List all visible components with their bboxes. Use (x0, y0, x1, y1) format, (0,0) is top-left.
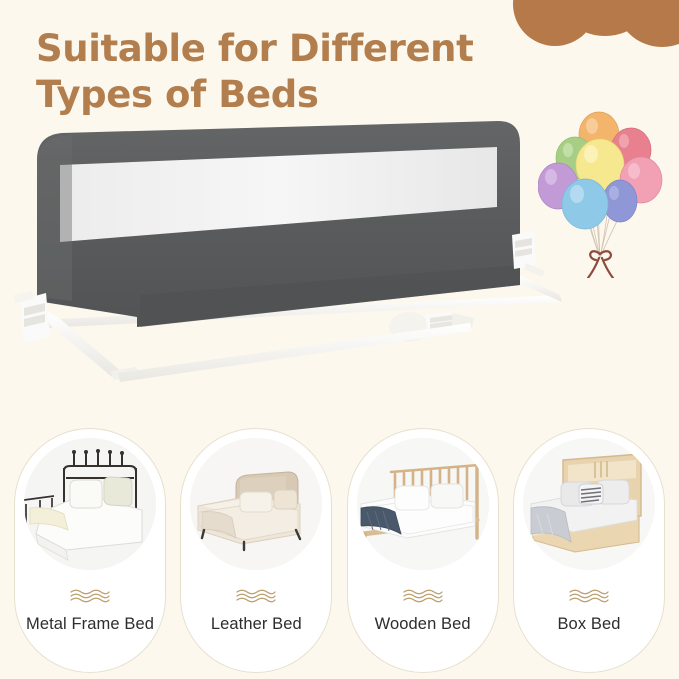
support-bar-front (118, 323, 472, 382)
wave-divider-icon (234, 588, 278, 604)
bed-card-label: Leather Bed (203, 615, 310, 634)
bed-card-box-bed[interactable]: Box Bed (513, 428, 665, 673)
bed-card-metal-frame-bed[interactable]: Metal Frame Bed (14, 428, 166, 673)
rail-left-edge (37, 135, 72, 301)
bed-card-label: Box Bed (549, 615, 628, 634)
wooden-bed-photo (357, 438, 489, 570)
left-mounting-bracket (14, 291, 50, 343)
wave-divider-icon (567, 588, 611, 604)
box-bed-photo (523, 438, 655, 570)
bed-card-wooden-bed[interactable]: Wooden Bed (347, 428, 499, 673)
balloon-blue (562, 179, 608, 229)
bed-card-leather-bed[interactable]: Leather Bed (180, 428, 332, 673)
wave-divider-icon (68, 588, 112, 604)
balloons-icon (538, 108, 668, 278)
page-title: Suitable for Different Types of Beds (36, 26, 536, 118)
metal-frame-bed-photo (24, 438, 156, 570)
infographic-page: Suitable for Different Types of Beds (0, 0, 679, 679)
bed-rail-illustration (0, 105, 620, 405)
wave-divider-icon (401, 588, 445, 604)
leather-bed-photo (190, 438, 322, 570)
bed-card-label: Metal Frame Bed (18, 615, 162, 634)
bed-type-card-row: Metal Frame Bed (0, 428, 679, 679)
bed-card-label: Wooden Bed (367, 615, 479, 634)
